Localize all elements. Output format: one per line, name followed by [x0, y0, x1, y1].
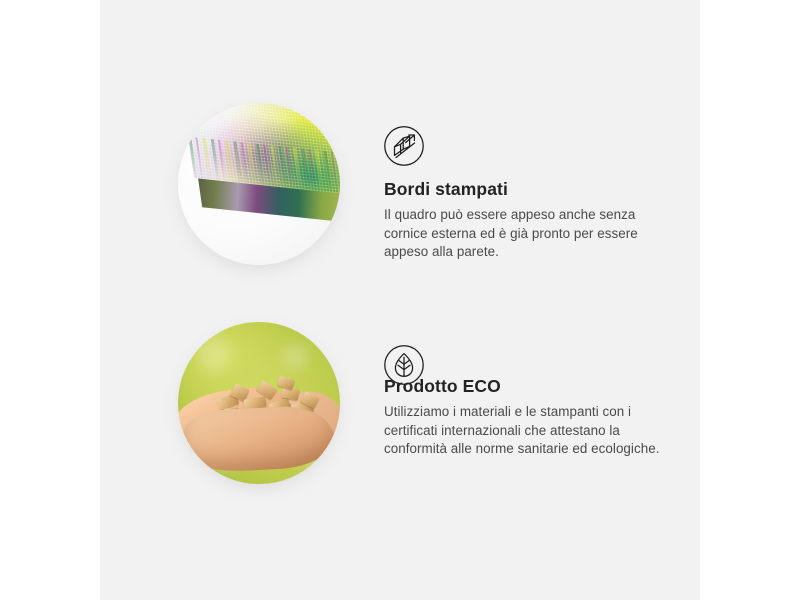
photo-backdrop [178, 322, 340, 484]
feature-description: Utilizziamo i materiali e le stampanti c… [384, 403, 674, 459]
feature-image-printed-edges [178, 103, 340, 265]
canvas-printed-face [180, 103, 340, 196]
product-feature-panel: Bordi stampati Il quadro può essere appe… [0, 0, 800, 600]
feature-text-eco-product: Prodotto ECO Utilizziamo i materiali e l… [384, 376, 674, 459]
feature-text-printed-edges: Bordi stampati Il quadro può essere appe… [384, 179, 674, 262]
canvas-corner-photo [178, 103, 340, 265]
hands-wood-chips-photo [178, 322, 340, 484]
printed-edges-icon [383, 125, 425, 167]
feature-description: Il quadro può essere appeso anche senza … [384, 206, 674, 262]
bokeh-highlight [282, 344, 308, 370]
feature-title: Bordi stampati [384, 179, 674, 200]
panel-background: Bordi stampati Il quadro può essere appe… [100, 0, 700, 600]
feature-title: Prodotto ECO [384, 376, 674, 397]
canvas-block [184, 103, 340, 258]
feature-image-eco-product [178, 322, 340, 484]
bokeh-highlight [196, 336, 232, 372]
